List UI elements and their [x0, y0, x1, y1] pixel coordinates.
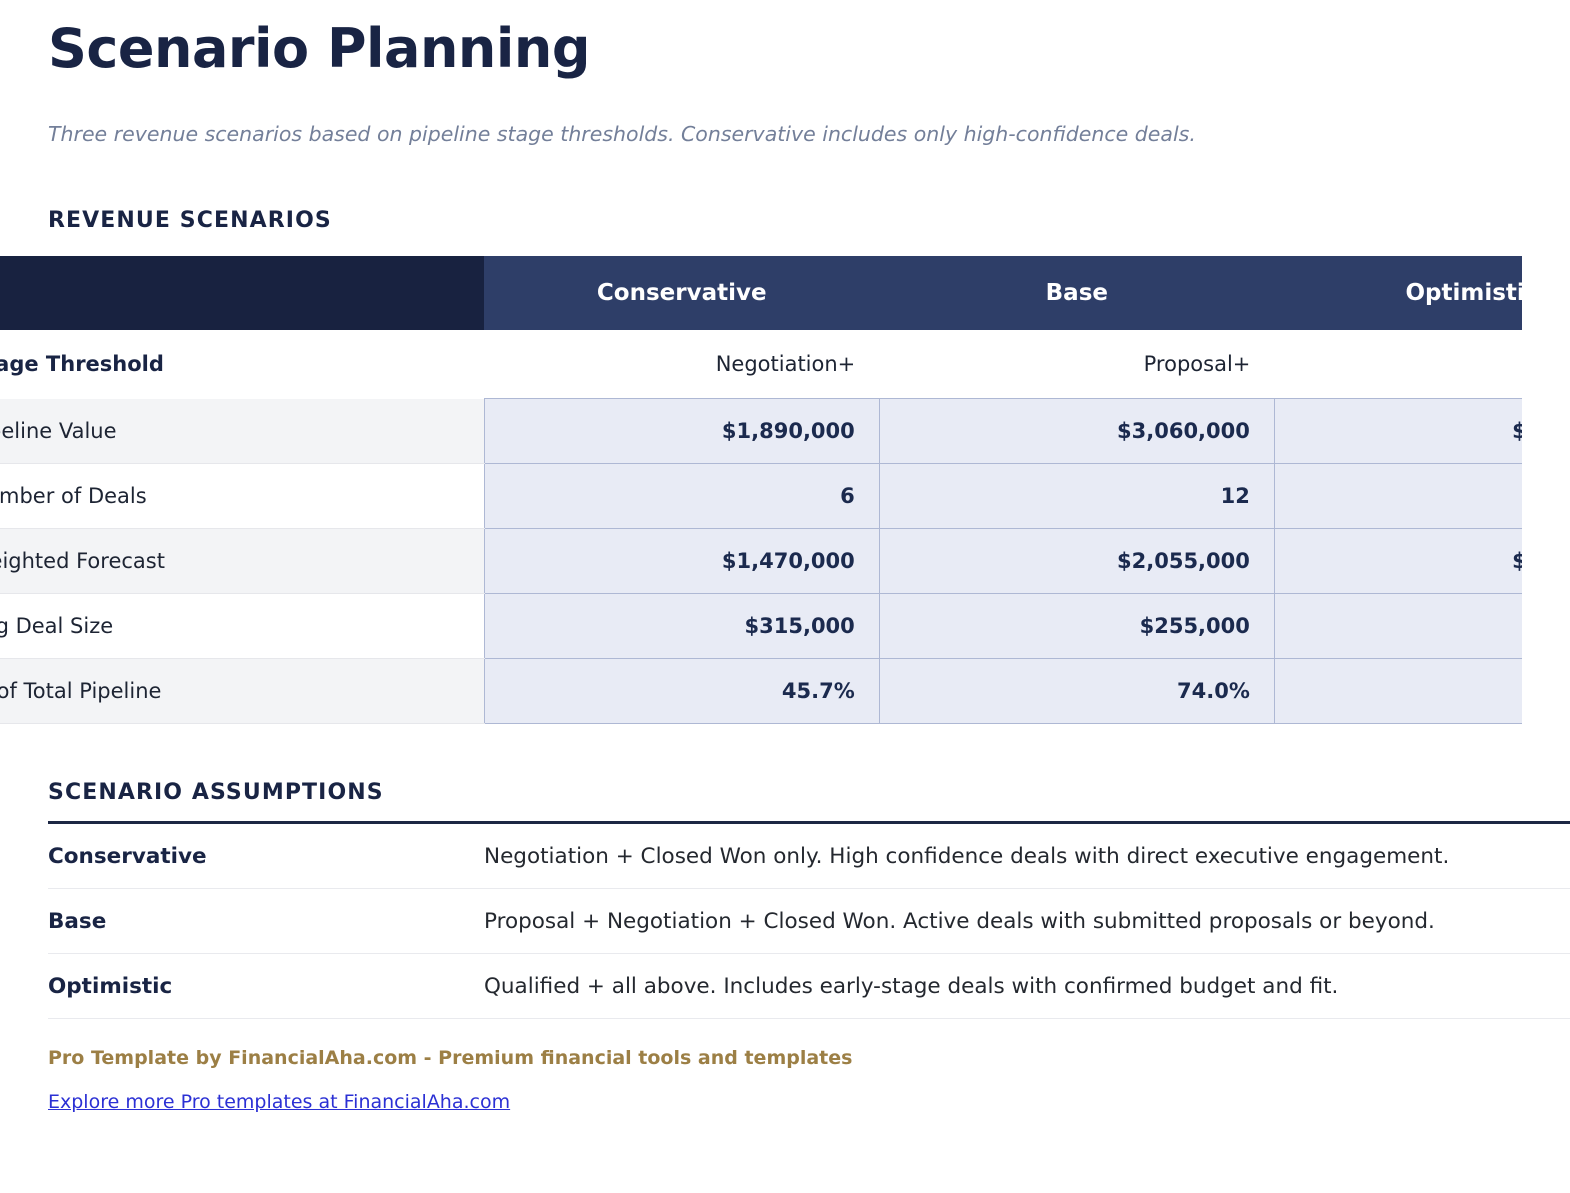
footer-explore-link[interactable]: Explore more Pro templates at FinancialA…: [48, 1091, 510, 1113]
row-label-number-of-deals: Number of Deals: [0, 464, 484, 529]
assumptions-section: SCENARIO ASSUMPTIONS Conservative Negoti…: [0, 724, 1570, 1113]
revenue-scenarios-heading: REVENUE SCENARIOS: [48, 146, 1570, 233]
assumption-description-base: Proposal + Negotiation + Closed Won. Act…: [484, 889, 1570, 954]
scenario-planning-page: Scenario Planning Three revenue scenario…: [0, 0, 1570, 1193]
page-subtitle: Three revenue scenarios based on pipelin…: [48, 80, 1570, 146]
assumption-row: Conservative Negotiation + Closed Won on…: [48, 823, 1570, 889]
row-label-pct-of-total-pipeline: % of Total Pipeline: [0, 659, 484, 724]
cell-pipeline-value-conservative: $1,890,000: [484, 399, 879, 464]
cell-pct-of-total-pipeline-conservative: 45.7%: [484, 659, 879, 724]
table-row: Avg Deal Size $315,000 $255,000 $216,938: [0, 594, 1522, 659]
table-header-row: Conservative Base Optimistic: [0, 256, 1522, 330]
column-header-base: Base: [879, 256, 1274, 330]
cell-number-of-deals-conservative: 6: [484, 464, 879, 529]
assumption-name-conservative: Conservative: [48, 823, 484, 889]
row-label-pipeline-value: Pipeline Value: [0, 399, 484, 464]
cell-pipeline-value-optimistic: $3,471,000: [1274, 399, 1522, 464]
table-row-stage-threshold: Stage Threshold Negotiation+ Proposal+ Q…: [0, 330, 1522, 399]
page-title: Scenario Planning: [48, 8, 1570, 80]
revenue-scenarios-table-wrapper: Conservative Base Optimistic Stage Thres…: [0, 256, 1522, 724]
cell-number-of-deals-optimistic: 16: [1274, 464, 1522, 529]
table-header: Conservative Base Optimistic: [0, 256, 1522, 330]
footer-pro-note: Pro Template by FinancialAha.com - Premi…: [48, 1047, 1570, 1069]
row-label-stage-threshold: Stage Threshold: [0, 330, 484, 399]
page-content: Scenario Planning Three revenue scenario…: [0, 0, 1570, 233]
cell-weighted-forecast-optimistic: $2,157,750: [1274, 529, 1522, 594]
assumption-name-optimistic: Optimistic: [48, 954, 484, 1019]
cell-weighted-forecast-base: $2,055,000: [879, 529, 1274, 594]
assumption-description-conservative: Negotiation + Closed Won only. High conf…: [484, 823, 1570, 889]
cell-pct-of-total-pipeline-base: 74.0%: [879, 659, 1274, 724]
cell-number-of-deals-base: 12: [879, 464, 1274, 529]
table-body: Stage Threshold Negotiation+ Proposal+ Q…: [0, 330, 1522, 724]
assumptions-table: Conservative Negotiation + Closed Won on…: [48, 821, 1570, 1019]
assumptions-table-wrapper: Conservative Negotiation + Closed Won on…: [48, 821, 1570, 1019]
assumption-description-optimistic: Qualified + all above. Includes early-st…: [484, 954, 1570, 1019]
assumption-row: Optimistic Qualified + all above. Includ…: [48, 954, 1570, 1019]
column-header-optimistic: Optimistic: [1274, 256, 1522, 330]
cell-pipeline-value-base: $3,060,000: [879, 399, 1274, 464]
cell-avg-deal-size-optimistic: $216,938: [1274, 594, 1522, 659]
assumption-name-base: Base: [48, 889, 484, 954]
assumption-row: Base Proposal + Negotiation + Closed Won…: [48, 889, 1570, 954]
table-row: Weighted Forecast $1,470,000 $2,055,000 …: [0, 529, 1522, 594]
revenue-scenarios-table: Conservative Base Optimistic Stage Thres…: [0, 256, 1522, 724]
cell-stage-threshold-conservative: Negotiation+: [484, 330, 879, 399]
row-label-avg-deal-size: Avg Deal Size: [0, 594, 484, 659]
cell-avg-deal-size-base: $255,000: [879, 594, 1274, 659]
column-header-conservative: Conservative: [484, 256, 879, 330]
table-row: % of Total Pipeline 45.7% 74.0% 83.9%: [0, 659, 1522, 724]
column-header-blank: [0, 256, 484, 330]
table-row: Pipeline Value $1,890,000 $3,060,000 $3,…: [0, 399, 1522, 464]
cell-stage-threshold-base: Proposal+: [879, 330, 1274, 399]
cell-weighted-forecast-conservative: $1,470,000: [484, 529, 879, 594]
scenario-assumptions-heading: SCENARIO ASSUMPTIONS: [48, 732, 1570, 805]
table-row: Number of Deals 6 12 16: [0, 464, 1522, 529]
row-label-weighted-forecast: Weighted Forecast: [0, 529, 484, 594]
cell-pct-of-total-pipeline-optimistic: 83.9%: [1274, 659, 1522, 724]
cell-avg-deal-size-conservative: $315,000: [484, 594, 879, 659]
footer: Pro Template by FinancialAha.com - Premi…: [48, 1019, 1570, 1113]
cell-stage-threshold-optimistic: Qualified+: [1274, 330, 1522, 399]
